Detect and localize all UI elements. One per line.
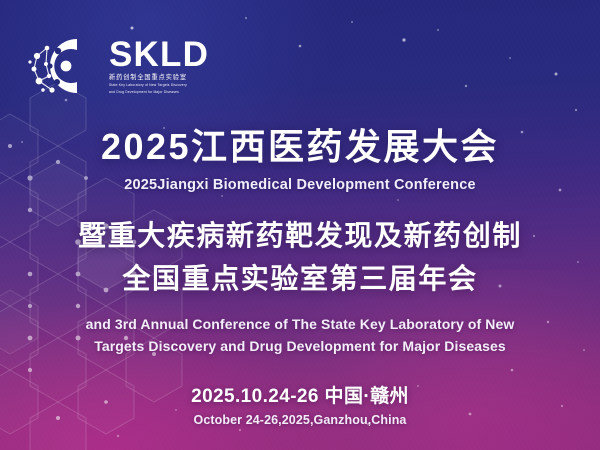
date-location-block: 2025.10.24-26 中国·赣州 October 24-26,2025,G… bbox=[0, 381, 600, 427]
logo-subtitle-cn: 新药创制全国重点实验室 bbox=[109, 75, 209, 82]
skld-logo: SKLD 新药创制全国重点实验室 State Key Laboratory of… bbox=[28, 33, 209, 99]
date-location-cn: 2025.10.24-26 中国·赣州 bbox=[0, 381, 600, 408]
conference-poster: SKLD 新药创制全国重点实验室 State Key Laboratory of… bbox=[0, 0, 600, 450]
subtitle-en-line1: and 3rd Annual Conference of The State K… bbox=[0, 314, 600, 336]
poster-content: 2025江西医药发展大会 2025Jiangxi Biomedical Deve… bbox=[0, 126, 600, 358]
main-title-en: 2025Jiangxi Biomedical Development Confe… bbox=[0, 177, 600, 193]
subtitle-cn-line1: 暨重大疾病新药靶发现及新药创制 bbox=[0, 216, 600, 257]
date-location-en: October 24-26,2025,Ganzhou,China bbox=[0, 413, 600, 427]
subtitle-en-line2: Targets Discovery and Drug Development f… bbox=[0, 336, 600, 358]
logo-subtitle-en-line1: State Key Laboratory of New Targets Disc… bbox=[109, 83, 209, 88]
skld-c-molecule-logo bbox=[28, 33, 102, 99]
subtitle-cn-line2: 全国重点实验室第三届年会 bbox=[0, 259, 600, 300]
main-title-cn: 2025江西医药发展大会 bbox=[0, 126, 600, 168]
logo-subtitle-en-line2: and Drug Development for Major Diseases bbox=[109, 90, 209, 95]
logo-wordmark: SKLD bbox=[109, 37, 209, 72]
